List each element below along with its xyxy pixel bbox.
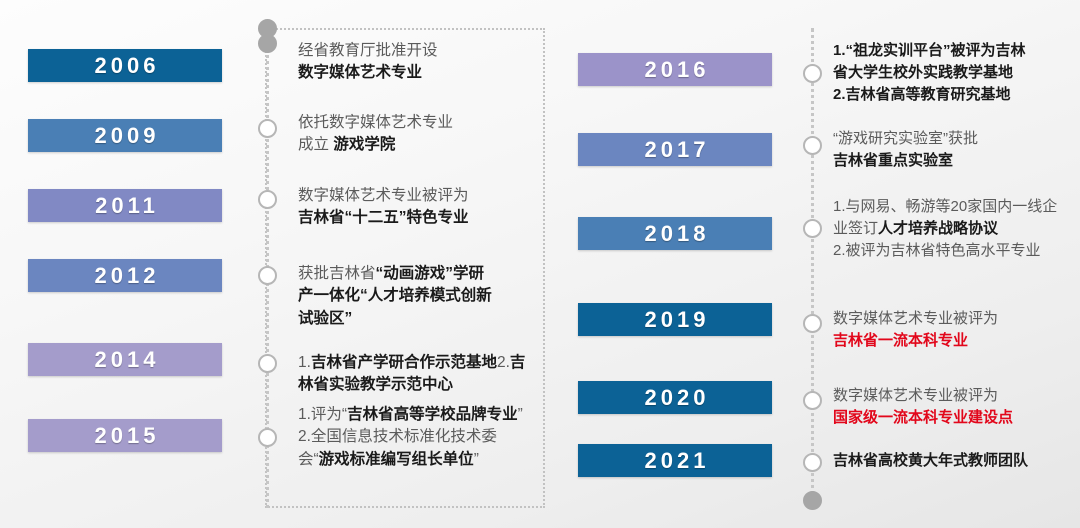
left-timeline-node-2012[interactable]: [258, 266, 277, 285]
left-note-5-line-5: 游戏标准编写组长单位: [319, 451, 474, 468]
right-note-1-row: “游戏研究实验室”获批: [833, 128, 1065, 150]
year-bar-2018[interactable]: 2018: [578, 217, 772, 250]
year-bar-2014[interactable]: 2014: [28, 343, 222, 376]
left-note-3-line-2: 产一体化“人才培养模式创新: [298, 287, 492, 304]
left-note-3-line-3: 试验区”: [298, 310, 352, 327]
left-note-3: 获批吉林省“动画游戏”学研产一体化“人才培养模式创新试验区”: [298, 263, 530, 330]
left-note-5-row: 1.评为“吉林省高等学校品牌专业”: [298, 404, 530, 426]
year-bar-2009[interactable]: 2009: [28, 119, 222, 152]
left-note-5-line-4: 会“: [298, 451, 319, 468]
left-note-5-line-3: 2.全国信息技术标准化技术委: [298, 428, 497, 445]
left-note-4-row: 1.吉林省产学研合作示范基地2.吉林省实验教学示范中心: [298, 352, 530, 397]
right-note-4-row: 国家级一流本科专业建设点: [833, 407, 1065, 429]
right-timeline-rail: [811, 28, 814, 508]
right-note-2-line-2: 人才培养战略协议: [878, 220, 998, 237]
right-note-1: “游戏研究实验室”获批吉林省重点实验室: [833, 128, 1065, 172]
right-timeline-node-2019[interactable]: [803, 314, 822, 333]
left-note-2-line-1: 吉林省“十二五”特色专业: [298, 209, 469, 226]
left-note-0-row: 数字媒体艺术专业: [298, 62, 530, 84]
right-note-3-line-1: 吉林省一流本科专业: [833, 332, 968, 349]
left-note-0-line-0: 经省教育厅批准开设: [298, 42, 438, 59]
year-bar-2021[interactable]: 2021: [578, 444, 772, 477]
left-note-1: 依托数字媒体艺术专业成立 游戏学院: [298, 112, 530, 157]
right-note-2-line-0: 1.与网易、畅游等20家国内一: [833, 198, 1027, 215]
right-note-1-row: 吉林省重点实验室: [833, 150, 1065, 172]
left-note-3-row: 试验区”: [298, 308, 530, 330]
right-note-2-row: 2.被评为吉林省特色高水平专业: [833, 240, 1065, 262]
left-note-5-row: 2.全国信息技术标准化技术委会“游戏标准编写组长单位”: [298, 426, 530, 471]
left-note-2-line-0: 数字媒体艺术专业被评为: [298, 187, 469, 204]
left-note-1-line-2: 游戏学院: [333, 136, 395, 153]
right-note-5-row: 吉林省高校黄大年式教师团队: [833, 450, 1065, 472]
left-note-3-row: 产一体化“人才培养模式创新: [298, 285, 530, 307]
right-timeline-end-node[interactable]: [803, 491, 822, 510]
right-note-0-row: 省大学生校外实践教学基地: [833, 62, 1065, 84]
right-note-3: 数字媒体艺术专业被评为吉林省一流本科专业: [833, 308, 1065, 352]
right-note-0-line-0: 1.“祖龙实训平台”被评为吉林: [833, 42, 1026, 59]
left-note-5-line-2: ”: [518, 406, 523, 423]
left-timeline-node-2014[interactable]: [258, 354, 277, 373]
year-bar-2017[interactable]: 2017: [578, 133, 772, 166]
left-note-0-line-1: 数字媒体艺术专业: [298, 64, 422, 81]
left-note-1-line-0: 依托数字媒体艺术专业: [298, 114, 453, 131]
left-note-3-line-0: 获批吉林省: [298, 265, 376, 282]
right-note-0-line-2: 2.吉林省高等教育研究基地: [833, 86, 1011, 103]
left-note-2: 数字媒体艺术专业被评为吉林省“十二五”特色专业: [298, 185, 530, 230]
right-timeline-node-2016[interactable]: [803, 64, 822, 83]
left-note-2-row: 数字媒体艺术专业被评为: [298, 185, 530, 207]
year-bar-2006[interactable]: 2006: [28, 49, 222, 82]
right-note-4-line-1: 国家级一流本科专业建设点: [833, 409, 1013, 426]
year-bar-2015[interactable]: 2015: [28, 419, 222, 452]
left-note-1-row: 依托数字媒体艺术专业: [298, 112, 530, 134]
right-note-0: 1.“祖龙实训平台”被评为吉林省大学生校外实践教学基地2.吉林省高等教育研究基地: [833, 40, 1065, 105]
left-note-5-line-0: 1.评为“: [298, 406, 347, 423]
right-note-1-line-1: 吉林省重点实验室: [833, 152, 953, 169]
left-note-1-line-1: 成立: [298, 136, 333, 153]
right-note-2-line-3: 2.被评为吉林省特色高水平专业: [833, 242, 1041, 259]
left-note-4-line-1: 吉林省产学研合作示范基地: [311, 354, 497, 371]
left-note-4: 1.吉林省产学研合作示范基地2.吉林省实验教学示范中心: [298, 352, 530, 397]
right-timeline-node-2020[interactable]: [803, 391, 822, 410]
right-note-5-line-0: 吉林省高校黄大年式教师团队: [833, 452, 1028, 469]
right-note-2-row: 1.与网易、畅游等20家国内一线企业签订人才培养战略协议: [833, 196, 1065, 240]
left-timeline-node-2009[interactable]: [258, 119, 277, 138]
right-note-3-row: 吉林省一流本科专业: [833, 330, 1065, 352]
right-note-0-row: 2.吉林省高等教育研究基地: [833, 84, 1065, 106]
right-note-4-row: 数字媒体艺术专业被评为: [833, 385, 1065, 407]
right-timeline-node-2018[interactable]: [803, 219, 822, 238]
right-timeline-node-2021[interactable]: [803, 453, 822, 472]
left-note-0-row: 经省教育厅批准开设: [298, 40, 530, 62]
left-note-0: 经省教育厅批准开设数字媒体艺术专业: [298, 40, 530, 85]
right-note-4-line-0: 数字媒体艺术专业被评为: [833, 387, 998, 404]
left-note-2-row: 吉林省“十二五”特色专业: [298, 207, 530, 229]
right-note-3-line-0: 数字媒体艺术专业被评为: [833, 310, 998, 327]
right-timeline-node-2017[interactable]: [803, 136, 822, 155]
year-bar-2019[interactable]: 2019: [578, 303, 772, 336]
left-timeline-node-2015[interactable]: [258, 428, 277, 447]
right-note-0-line-1: 省大学生校外实践教学基地: [833, 64, 1013, 81]
year-bar-2012[interactable]: 2012: [28, 259, 222, 292]
right-note-4: 数字媒体艺术专业被评为国家级一流本科专业建设点: [833, 385, 1065, 429]
left-note-5-line-6: ”: [474, 451, 479, 468]
left-timeline-node-2011[interactable]: [258, 190, 277, 209]
right-note-1-line-0: “游戏研究实验室”获批: [833, 130, 978, 147]
left-note-1-row: 成立 游戏学院: [298, 134, 530, 156]
left-note-3-line-1: “动画游戏”学研: [376, 265, 485, 282]
left-note-3-row: 获批吉林省“动画游戏”学研: [298, 263, 530, 285]
timeline-infographic: 2006经省教育厅批准开设数字媒体艺术专业2009依托数字媒体艺术专业成立 游戏…: [0, 0, 1080, 528]
year-bar-2016[interactable]: 2016: [578, 53, 772, 86]
left-note-5-line-1: 吉林省高等学校品牌专业: [347, 406, 518, 423]
left-timeline-start-node[interactable]: [258, 19, 277, 38]
left-note-4-line-0: 1.: [298, 354, 311, 371]
left-note-5: 1.评为“吉林省高等学校品牌专业”2.全国信息技术标准化技术委会“游戏标准编写组…: [298, 404, 530, 471]
year-bar-2020[interactable]: 2020: [578, 381, 772, 414]
right-note-2: 1.与网易、畅游等20家国内一线企业签订人才培养战略协议2.被评为吉林省特色高水…: [833, 196, 1065, 261]
right-note-0-row: 1.“祖龙实训平台”被评为吉林: [833, 40, 1065, 62]
left-note-4-line-2: 2.: [497, 354, 510, 371]
year-bar-2011[interactable]: 2011: [28, 189, 222, 222]
right-note-3-row: 数字媒体艺术专业被评为: [833, 308, 1065, 330]
right-note-5: 吉林省高校黄大年式教师团队: [833, 450, 1065, 472]
